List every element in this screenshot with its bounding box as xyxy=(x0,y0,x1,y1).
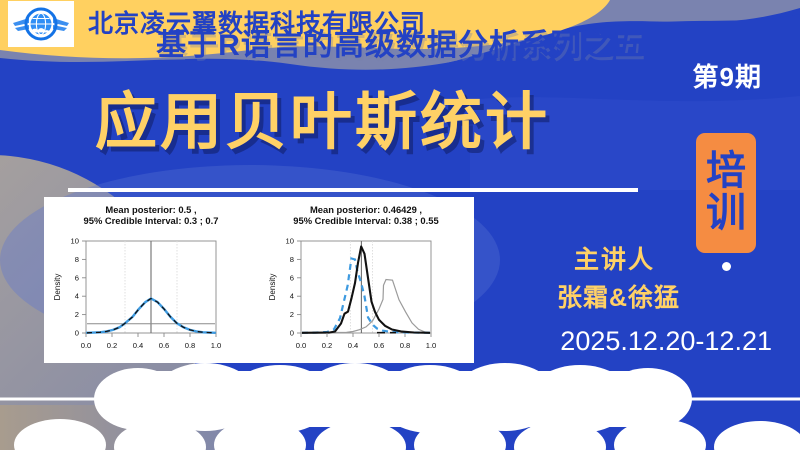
chart-right-ytick-4: 4 xyxy=(290,292,294,301)
chart-right-ytick-0: 0 xyxy=(290,329,294,338)
title-underline-rule xyxy=(68,188,638,192)
training-badge: 培 训 xyxy=(696,133,756,253)
winged-globe-logo-icon xyxy=(11,4,71,44)
chart-left-xtick-0: 0.0 xyxy=(81,341,92,350)
footer-cloud-shape xyxy=(14,363,800,450)
chart-right-xtick-0: 0.0 xyxy=(296,341,307,350)
title-block: 应用贝叶斯统计 xyxy=(0,92,645,154)
chart-left-ylabel: Density xyxy=(53,274,62,301)
header-bar: 北京凌云翼数据科技有限公司 xyxy=(0,0,800,48)
chart-right-ytick-10: 10 xyxy=(286,237,294,246)
chart-right-xtick-2: 0.4 xyxy=(348,341,359,350)
chart-left-ytick-4: 4 xyxy=(75,292,79,301)
chart-right-xtick-4: 0.8 xyxy=(400,341,411,350)
issue-number-badge: 第9期 xyxy=(693,57,762,94)
decorative-dot xyxy=(722,262,731,271)
company-name: 北京凌云翼数据科技有限公司 xyxy=(88,12,426,37)
chart-right-xtick-1: 0.2 xyxy=(322,341,333,350)
chart-right-ylabel: Density xyxy=(268,274,277,301)
chart-left-ytick-6: 6 xyxy=(75,273,79,282)
speaker-names: 张霜&徐猛 xyxy=(557,278,680,314)
chart-left-xtick-1: 0.2 xyxy=(107,341,118,350)
chart-right-xtick-5: 1.0 xyxy=(426,341,437,350)
chart-card: Mean posterior: 0.5 , 95% Credible Inter… xyxy=(44,197,474,363)
chart-right-ytick-8: 8 xyxy=(290,255,294,264)
chart-left-ytick-10: 10 xyxy=(71,237,79,246)
chart-right-title: Mean posterior: 0.46429 , xyxy=(310,204,422,215)
posterior-density-charts: Mean posterior: 0.5 , 95% Credible Inter… xyxy=(44,197,474,363)
footer-cloud-banner xyxy=(0,355,800,450)
logo-container xyxy=(8,1,74,47)
speaker-label: 主讲人 xyxy=(574,240,655,276)
chart-left-title: Mean posterior: 0.5 , xyxy=(105,204,196,215)
chart-right-ytick-6: 6 xyxy=(290,273,294,282)
chart-right-ytick-2: 2 xyxy=(290,310,294,319)
chart-right-xtick-3: 0.6 xyxy=(374,341,385,350)
training-badge-char-1: 培 xyxy=(706,151,746,193)
chart-right-subtitle: 95% Credible Interval: 0.38 ; 0.55 xyxy=(293,215,438,226)
chart-left-ytick-2: 2 xyxy=(75,310,79,319)
poster-canvas: 北京凌云翼数据科技有限公司 第9期 应用贝叶斯统计 培 训 主讲人 张霜&徐猛 … xyxy=(0,0,800,450)
page-title: 应用贝叶斯统计 xyxy=(0,92,645,154)
chart-left-xtick-2: 0.4 xyxy=(133,341,144,350)
chart-left-xtick-3: 0.6 xyxy=(159,341,170,350)
event-date: 2025.12.20-12.21 xyxy=(560,326,772,357)
training-badge-char-2: 训 xyxy=(706,193,746,235)
chart-left-ytick-0: 0 xyxy=(75,329,79,338)
chart-left-xtick-4: 0.8 xyxy=(185,341,196,350)
chart-left-xtick-5: 1.0 xyxy=(211,341,222,350)
chart-left-ytick-8: 8 xyxy=(75,255,79,264)
chart-left-subtitle: 95% Credible Interval: 0.3 ; 0.7 xyxy=(84,215,219,226)
